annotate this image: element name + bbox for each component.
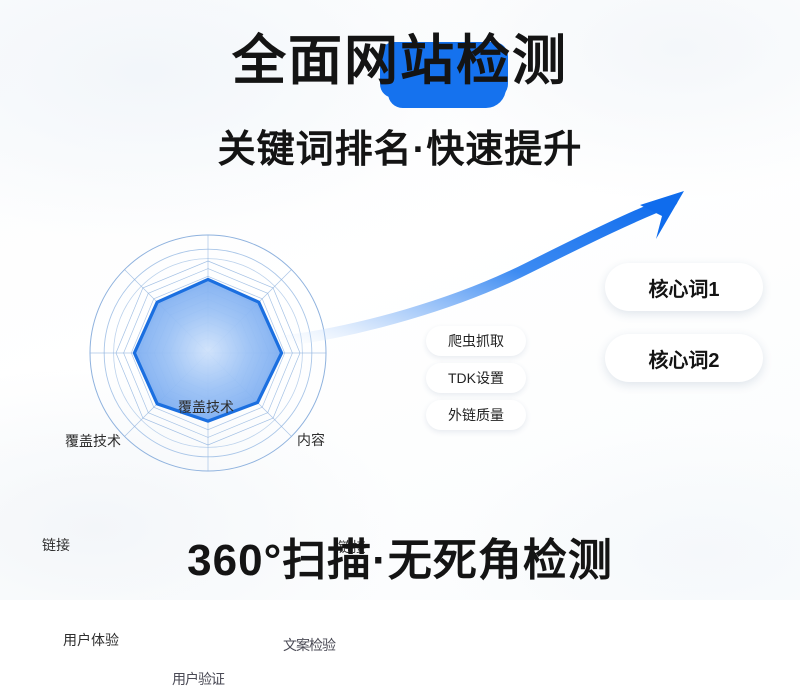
tag-pill-label: 爬虫抓取 bbox=[448, 331, 504, 351]
keyword-pill-label: 核心词1 bbox=[648, 273, 719, 302]
radar-axis-label-7: 覆盖技术 bbox=[65, 431, 121, 451]
radar-axis-label-3: 文案检验 bbox=[283, 635, 335, 655]
keyword-pill-1[interactable]: 核心词2 bbox=[605, 334, 763, 382]
radar-axis-label-1: 内容 bbox=[297, 430, 325, 450]
bottom-title: 360°扫描·无死角检测 bbox=[0, 524, 800, 588]
title-main: 全面网站检测 bbox=[232, 34, 568, 88]
subtitle: 关键词排名·快速提升 bbox=[0, 118, 800, 173]
keyword-pill-label: 核心词2 bbox=[648, 344, 719, 373]
radar-axis-label-4: 用户验证 bbox=[172, 669, 224, 689]
tag-pill-label: TDK设置 bbox=[448, 368, 504, 388]
tag-pill-0[interactable]: 爬虫抓取 bbox=[426, 326, 526, 356]
page-title: 全面网站检测 bbox=[0, 34, 800, 88]
keyword-pill-0[interactable]: 核心词1 bbox=[605, 263, 763, 311]
radar-axis-label-5: 用户体验 bbox=[63, 630, 119, 650]
tag-pill-1[interactable]: TDK设置 bbox=[426, 363, 526, 393]
tag-pill-2[interactable]: 外链质量 bbox=[426, 400, 526, 430]
title-main-text: 全面网站检测 bbox=[232, 31, 568, 91]
tag-pill-label: 外链质量 bbox=[448, 405, 504, 425]
radar-axis-label-0: 覆盖技术 bbox=[178, 397, 234, 417]
poster-canvas: 全面网站检测 关键词排名·快速提升 覆盖技术内容链接文案检验用户验证用户体验链接… bbox=[0, 0, 800, 600]
